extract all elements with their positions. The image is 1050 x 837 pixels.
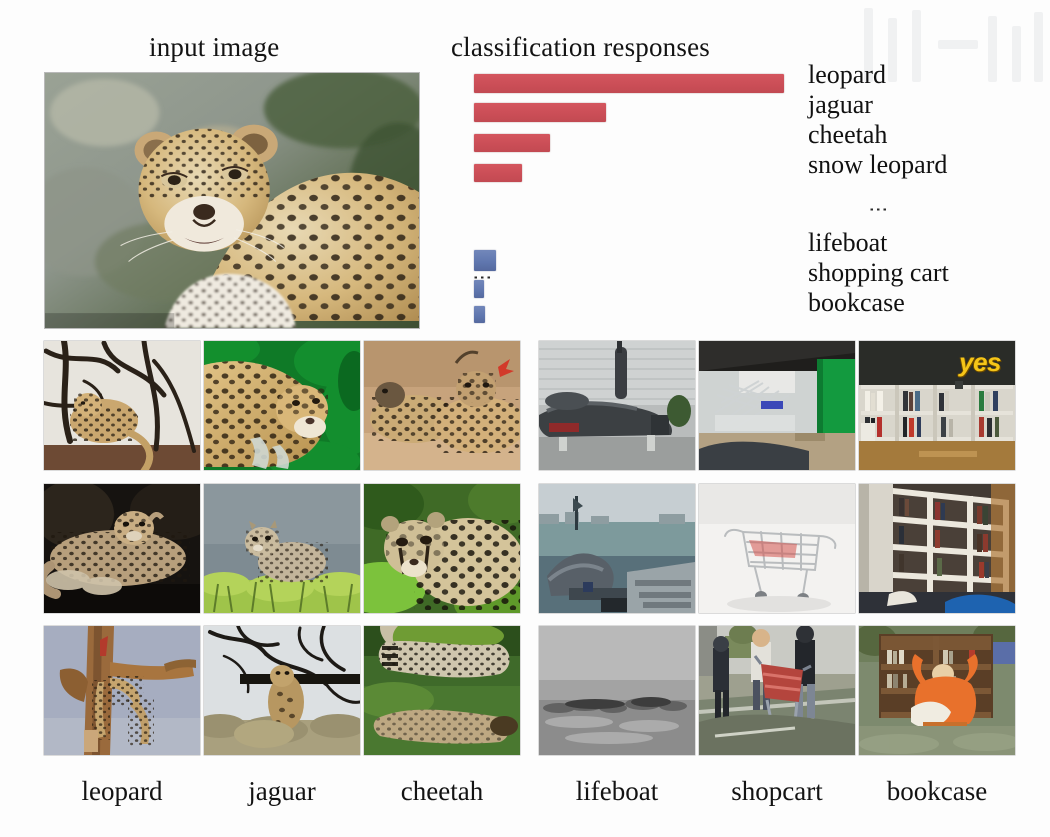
shopping-carts-green-wall-illustration bbox=[699, 341, 855, 470]
jaguar-cub-grass-illustration bbox=[204, 484, 360, 613]
grid-cell-person-at-bookcase-orange-shirt bbox=[859, 626, 1015, 755]
bar-cheetah bbox=[474, 134, 550, 152]
grid-cell-leopard-climbing-trunk bbox=[44, 626, 200, 755]
grid-cell-shopping-carts-by-green-wall bbox=[699, 341, 855, 470]
classification-response-bar-chart: ⋮ bbox=[474, 66, 804, 316]
class-label-lifeboat: lifeboat bbox=[808, 228, 1048, 258]
bar-shopping-cart bbox=[474, 280, 484, 298]
grid-row: yes bbox=[0, 341, 1050, 470]
grid-cell-lifeboat-at-sea-greyscale bbox=[539, 626, 695, 755]
grid-cell-cheetah-lying-in-grass bbox=[364, 626, 520, 755]
lifeboat-harbour-illustration bbox=[539, 484, 695, 613]
grid-cell-cheetah-closeup-in-grass bbox=[364, 484, 520, 613]
grid-row bbox=[0, 484, 1050, 613]
leopard-portrait-illustration bbox=[45, 73, 419, 328]
column-label-shopcart: shopcart bbox=[699, 776, 855, 807]
label-gap bbox=[808, 180, 1048, 228]
shopping-cart-white-illustration bbox=[699, 484, 855, 613]
column-label-cheetah: cheetah bbox=[364, 776, 520, 807]
grid-row bbox=[0, 626, 1050, 755]
bar-bookcase bbox=[474, 306, 485, 323]
class-label-snow-leopard: snow leopard bbox=[808, 150, 1048, 180]
column-label-bookcase: bookcase bbox=[859, 776, 1015, 807]
grid-cell-jaguar-cub-in-grass bbox=[204, 484, 360, 613]
class-label-list: leopard jaguar cheetah snow leopard life… bbox=[808, 60, 1048, 318]
class-label-bookcase: bookcase bbox=[808, 288, 1048, 318]
yes-overlay-text: yes bbox=[959, 347, 1001, 378]
jaguar-bare-branch-illustration bbox=[204, 626, 360, 755]
grid-cell-bookcase-with-yes-sign: yes bbox=[859, 341, 1015, 470]
column-label-jaguar: jaguar bbox=[204, 776, 360, 807]
input-image-heading: input image bbox=[149, 32, 279, 63]
lifeboat-trailer-illustration bbox=[539, 341, 695, 470]
grid-cell-leopard-in-tree bbox=[44, 341, 200, 470]
grid-cell-shopping-cart-white-background bbox=[699, 484, 855, 613]
class-label-cheetah: cheetah bbox=[808, 120, 1048, 150]
bar-snow-leopard bbox=[474, 164, 522, 182]
grid-cell-bookcase-room-interior bbox=[859, 484, 1015, 613]
retrieved-images-grid: yes bbox=[0, 338, 1050, 768]
class-label-leopard: leopard bbox=[808, 60, 1048, 90]
grid-column-labels: leopard jaguar cheetah lifeboat shopcart… bbox=[0, 776, 1050, 821]
input-image-photo bbox=[44, 72, 420, 329]
grid-cell-lifeboat-on-trailer bbox=[539, 341, 695, 470]
people-shopping-cart-illustration bbox=[699, 626, 855, 755]
bar-lifeboat bbox=[474, 250, 496, 271]
bar-jaguar bbox=[474, 103, 606, 122]
grid-cell-people-pushing-shopping-cart bbox=[699, 626, 855, 755]
lifeboat-sea-greyscale-illustration bbox=[539, 626, 695, 755]
leopard-climbing-trunk-illustration bbox=[44, 626, 200, 755]
column-label-leopard: leopard bbox=[44, 776, 200, 807]
bar-leopard bbox=[474, 74, 784, 93]
class-label-jaguar: jaguar bbox=[808, 90, 1048, 120]
grid-cell-jaguar-on-bare-branch bbox=[204, 626, 360, 755]
jaguar-foliage-illustration bbox=[204, 341, 360, 470]
grid-cell-lifeboat-harbour-view bbox=[539, 484, 695, 613]
grid-cell-jaguar-in-green-foliage bbox=[204, 341, 360, 470]
leopard-in-tree-illustration bbox=[44, 341, 200, 470]
cheetah-lying-grass-illustration bbox=[364, 626, 520, 755]
classification-responses-heading: classification responses bbox=[451, 32, 710, 63]
person-bookcase-illustration bbox=[859, 626, 1015, 755]
grid-cell-leopard-resting-on-rock bbox=[44, 484, 200, 613]
cheetahs-on-sand-illustration bbox=[364, 341, 520, 470]
column-label-lifeboat: lifeboat bbox=[539, 776, 695, 807]
cheetah-closeup-illustration bbox=[364, 484, 520, 613]
bookcase-room-illustration bbox=[859, 484, 1015, 613]
class-label-shopping-cart: shopping cart bbox=[808, 258, 1048, 288]
leopard-on-rock-illustration bbox=[44, 484, 200, 613]
labels-ellipsis: ⋮ bbox=[874, 200, 880, 219]
grid-cell-cheetahs-on-sand bbox=[364, 341, 520, 470]
